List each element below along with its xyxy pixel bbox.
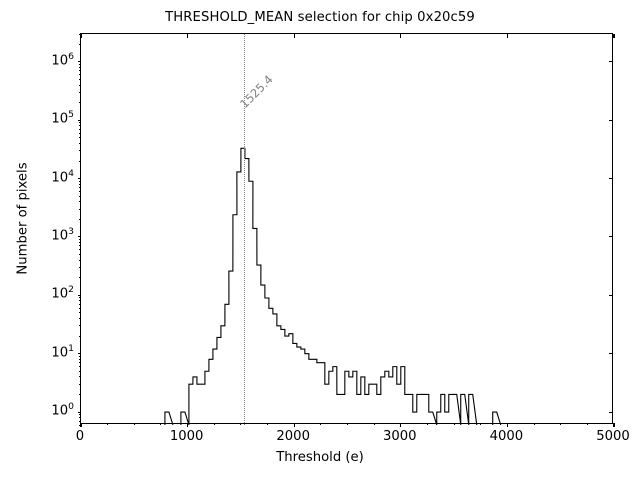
y-tick-mark-right <box>609 412 613 413</box>
y-minor-tick-mark <box>79 70 81 71</box>
y-minor-tick-mark <box>79 325 81 326</box>
y-minor-tick-mark <box>79 143 81 144</box>
y-minor-tick-mark <box>79 359 81 360</box>
x-tick-mark-top <box>80 34 81 38</box>
y-minor-tick-mark <box>79 300 81 301</box>
x-minor-tick-mark <box>454 423 455 425</box>
y-minor-tick-mark <box>79 67 81 68</box>
y-minor-tick-mark <box>79 79 81 80</box>
y-minor-tick-mark <box>79 74 81 75</box>
y-minor-tick-mark <box>79 336 81 337</box>
y-minor-tick-mark <box>79 297 81 298</box>
x-minor-tick-mark <box>587 423 588 425</box>
y-minor-tick-mark <box>79 125 81 126</box>
x-minor-tick-mark <box>427 423 428 425</box>
y-minor-tick-mark <box>79 366 81 367</box>
y-tick-mark <box>78 236 82 237</box>
x-minor-tick-mark <box>107 423 108 425</box>
x-tick-mark-top <box>613 34 614 38</box>
y-minor-tick-mark <box>79 384 81 385</box>
y-minor-tick-mark <box>79 129 81 130</box>
y-minor-tick-mark <box>79 191 81 192</box>
y-minor-tick-mark <box>79 44 81 45</box>
y-minor-tick-mark <box>79 34 81 35</box>
y-minor-tick-mark <box>79 196 81 197</box>
y-tick-label: 101 <box>51 345 74 360</box>
y-minor-tick-mark <box>79 133 81 134</box>
y-tick-mark-right <box>609 178 613 179</box>
x-minor-tick-mark <box>134 423 135 425</box>
histogram-step-curve <box>81 34 614 425</box>
y-tick-mark-right <box>609 61 613 62</box>
y-minor-tick-mark <box>79 312 81 313</box>
y-minor-tick-mark <box>79 209 81 210</box>
y-minor-tick-mark <box>79 161 81 162</box>
y-minor-tick-mark <box>79 376 81 377</box>
y-tick-label: 105 <box>51 112 74 127</box>
y-minor-tick-mark <box>79 239 81 240</box>
x-minor-tick-mark <box>560 423 561 425</box>
y-minor-tick-mark <box>79 137 81 138</box>
y-tick-label: 103 <box>51 228 74 243</box>
y-tick-label: 102 <box>51 287 74 302</box>
y-tick-mark-right <box>609 353 613 354</box>
x-tick-mark-top <box>400 34 401 38</box>
y-tick-mark-right <box>609 120 613 121</box>
y-minor-tick-mark <box>79 187 81 188</box>
x-tick-mark <box>400 423 401 427</box>
y-minor-tick-mark <box>79 92 81 93</box>
y-minor-tick-mark <box>79 249 81 250</box>
plot-area: 1525.4 <box>80 33 613 424</box>
y-minor-tick-mark <box>79 201 81 202</box>
x-tick-mark-top <box>187 34 188 38</box>
y-tick-label: 100 <box>51 404 74 419</box>
x-minor-tick-mark <box>267 423 268 425</box>
x-minor-tick-mark <box>347 423 348 425</box>
y-minor-tick-mark <box>79 242 81 243</box>
y-minor-tick-mark <box>79 414 81 415</box>
y-minor-tick-mark <box>79 304 81 305</box>
x-minor-tick-mark <box>480 423 481 425</box>
y-tick-mark <box>78 412 82 413</box>
y-tick-mark-right <box>609 236 613 237</box>
y-tick-mark <box>78 353 82 354</box>
y-tick-mark <box>78 61 82 62</box>
y-axis-label: Number of pixels <box>16 99 31 339</box>
y-tick-label: 106 <box>51 53 74 68</box>
y-tick-label: 104 <box>51 170 74 185</box>
x-tick-mark <box>613 423 614 427</box>
x-tick-mark <box>294 423 295 427</box>
y-minor-tick-mark <box>79 245 81 246</box>
x-tick-mark-top <box>294 34 295 38</box>
y-minor-tick-mark <box>79 425 81 426</box>
y-minor-tick-mark <box>79 150 81 151</box>
x-tick-label: 0 <box>76 429 84 444</box>
y-minor-tick-mark <box>79 102 81 103</box>
x-tick-label: 3000 <box>383 429 417 444</box>
x-axis-label: Threshold (e) <box>0 450 640 465</box>
x-minor-tick-mark <box>374 423 375 425</box>
y-minor-tick-mark <box>79 308 81 309</box>
y-minor-tick-mark <box>79 267 81 268</box>
x-minor-tick-mark <box>534 423 535 425</box>
y-minor-tick-mark <box>79 371 81 372</box>
y-tick-mark <box>78 178 82 179</box>
y-minor-tick-mark <box>79 362 81 363</box>
x-tick-mark <box>187 423 188 427</box>
x-tick-mark-top <box>507 34 508 38</box>
x-tick-label: 4000 <box>490 429 524 444</box>
x-tick-label: 2000 <box>276 429 310 444</box>
y-minor-tick-mark <box>79 64 81 65</box>
y-tick-mark-right <box>609 295 613 296</box>
y-tick-mark <box>78 120 82 121</box>
x-minor-tick-mark <box>240 423 241 425</box>
histogram-figure: THRESHOLD_MEAN selection for chip 0x20c5… <box>0 0 640 480</box>
x-minor-tick-mark <box>214 423 215 425</box>
y-minor-tick-mark <box>79 85 81 86</box>
y-minor-tick-mark <box>79 318 81 319</box>
y-minor-tick-mark <box>79 219 81 220</box>
x-tick-mark <box>507 423 508 427</box>
x-tick-label: 1000 <box>170 429 204 444</box>
y-minor-tick-mark <box>79 184 81 185</box>
x-minor-tick-mark <box>160 423 161 425</box>
y-minor-tick-mark <box>79 122 81 123</box>
y-minor-tick-mark <box>79 260 81 261</box>
y-minor-tick-mark <box>79 181 81 182</box>
y-minor-tick-mark <box>79 277 81 278</box>
y-minor-tick-mark <box>79 394 81 395</box>
y-minor-tick-mark <box>79 421 81 422</box>
y-minor-tick-mark <box>79 417 81 418</box>
chart-title: THRESHOLD_MEAN selection for chip 0x20c5… <box>0 10 640 25</box>
y-minor-tick-mark <box>79 356 81 357</box>
x-tick-label: 5000 <box>596 429 630 444</box>
x-minor-tick-mark <box>320 423 321 425</box>
y-tick-mark <box>78 295 82 296</box>
y-minor-tick-mark <box>79 254 81 255</box>
